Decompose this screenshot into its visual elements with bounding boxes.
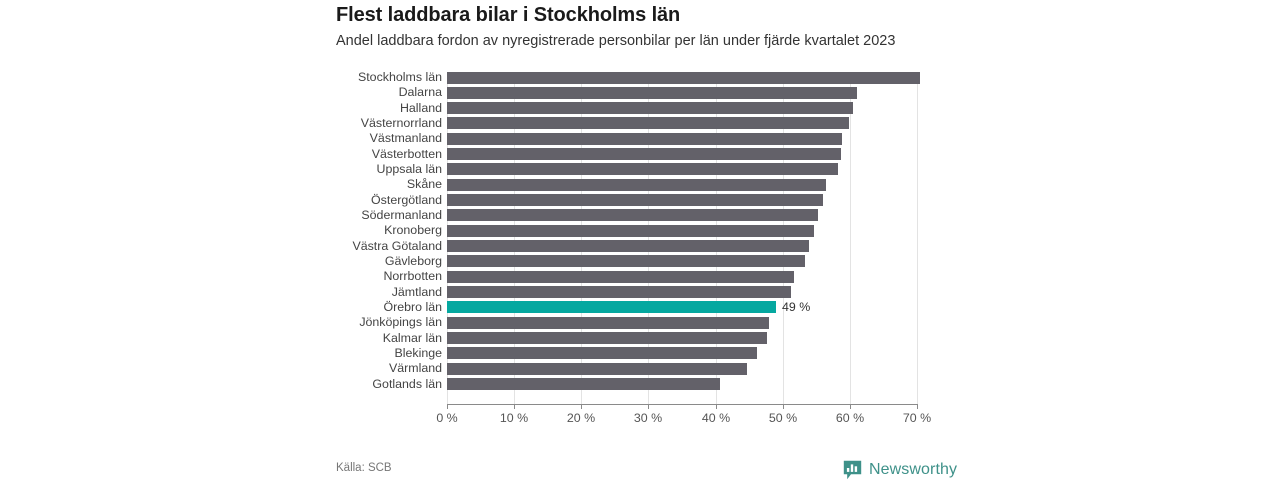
bar-row[interactable]: Kronoberg [0,223,1280,238]
bar[interactable] [447,317,769,329]
axis-tick-label: 30 % [634,411,662,425]
category-label: Östergötland [182,193,442,208]
newsworthy-logo[interactable]: Newsworthy [843,460,957,480]
bar-row[interactable]: Jönköpings län [0,315,1280,330]
category-label: Jämtland [182,285,442,300]
bar[interactable] [447,271,794,283]
bar-row[interactable]: Västerbotten [0,147,1280,162]
axis-tick-20 [581,404,582,409]
axis-tick-70 [917,404,918,409]
axis-tick-label: 10 % [500,411,528,425]
category-label: Västra Götaland [182,239,442,254]
bar-row[interactable]: Örebro län49 % [0,300,1280,315]
bar[interactable] [447,87,857,99]
bar[interactable] [447,102,853,114]
bar-highlighted[interactable] [447,301,776,313]
plot-area: Stockholms länDalarnaHallandVästernorrla… [0,70,1280,410]
bar[interactable] [447,286,791,298]
category-label: Blekinge [182,346,442,361]
bar-row[interactable]: Stockholms län [0,70,1280,85]
bar-row[interactable]: Östergötland [0,193,1280,208]
bar-row[interactable]: Västmanland [0,131,1280,146]
category-label: Gävleborg [182,254,442,269]
bar-row[interactable]: Skåne [0,177,1280,192]
bar-row[interactable]: Gotlands län [0,377,1280,392]
bar-row[interactable]: Gävleborg [0,254,1280,269]
bar-row[interactable]: Dalarna [0,85,1280,100]
bar-row[interactable]: Blekinge [0,346,1280,361]
category-label: Uppsala län [182,162,442,177]
category-label: Södermanland [182,208,442,223]
chart-subtitle: Andel laddbara fordon av nyregistrerade … [336,31,1236,51]
bar-value-label: 49 % [782,300,810,315]
brand-name: Newsworthy [869,461,957,479]
bar-row[interactable]: Kalmar län [0,331,1280,346]
bar[interactable] [447,225,814,237]
category-label: Jönköpings län [182,315,442,330]
category-label: Kronoberg [182,223,442,238]
axis-tick-label: 50 % [769,411,797,425]
chart-title: Flest laddbara bilar i Stockholms län [336,2,1236,28]
axis-tick-10 [514,404,515,409]
axis-tick-label: 0 % [436,411,457,425]
bar[interactable] [447,332,767,344]
bar[interactable] [447,163,838,175]
bar-row[interactable]: Västernorrland [0,116,1280,131]
category-label: Västmanland [182,131,442,146]
category-label: Norrbotten [182,269,442,284]
category-label: Örebro län [182,300,442,315]
newsworthy-bars-pin-icon [843,460,862,480]
category-label: Kalmar län [182,331,442,346]
axis-tick-label: 20 % [567,411,595,425]
x-axis: 0 %10 %20 %30 %40 %50 %60 %70 % [0,404,1280,434]
bar[interactable] [447,117,849,129]
source-note: Källa: SCB [336,462,392,474]
chart-footer: Källa: SCB Newsworthy [0,460,1280,480]
axis-tick-0 [447,404,448,409]
bar-row[interactable]: Halland [0,101,1280,116]
chart-header: Flest laddbara bilar i Stockholms län An… [336,2,1236,51]
bar-row[interactable]: Värmland [0,361,1280,376]
category-label: Gotlands län [182,377,442,392]
category-label: Västernorrland [182,116,442,131]
category-label: Värmland [182,361,442,376]
axis-line [447,404,917,405]
bar-row[interactable]: Södermanland [0,208,1280,223]
bar[interactable] [447,378,720,390]
bar[interactable] [447,347,757,359]
category-label: Halland [182,101,442,116]
bar[interactable] [447,179,826,191]
axis-tick-label: 40 % [702,411,730,425]
category-label: Västerbotten [182,147,442,162]
axis-tick-label: 60 % [836,411,864,425]
axis-tick-50 [783,404,784,409]
bar[interactable] [447,148,841,160]
axis-tick-40 [716,404,717,409]
category-label: Stockholms län [182,70,442,85]
bar[interactable] [447,194,823,206]
bar-row[interactable]: Norrbotten [0,269,1280,284]
bar[interactable] [447,255,805,267]
bar[interactable] [447,240,809,252]
bar[interactable] [447,133,842,145]
axis-tick-30 [648,404,649,409]
bar-row[interactable]: Uppsala län [0,162,1280,177]
axis-tick-label: 70 % [903,411,931,425]
category-label: Dalarna [182,85,442,100]
bar[interactable] [447,363,747,375]
bar-row[interactable]: Jämtland [0,285,1280,300]
category-label: Skåne [182,177,442,192]
bar[interactable] [447,72,920,84]
chart-container: Flest laddbara bilar i Stockholms län An… [0,0,1280,480]
bar-row[interactable]: Västra Götaland [0,239,1280,254]
axis-tick-60 [850,404,851,409]
bar[interactable] [447,209,818,221]
